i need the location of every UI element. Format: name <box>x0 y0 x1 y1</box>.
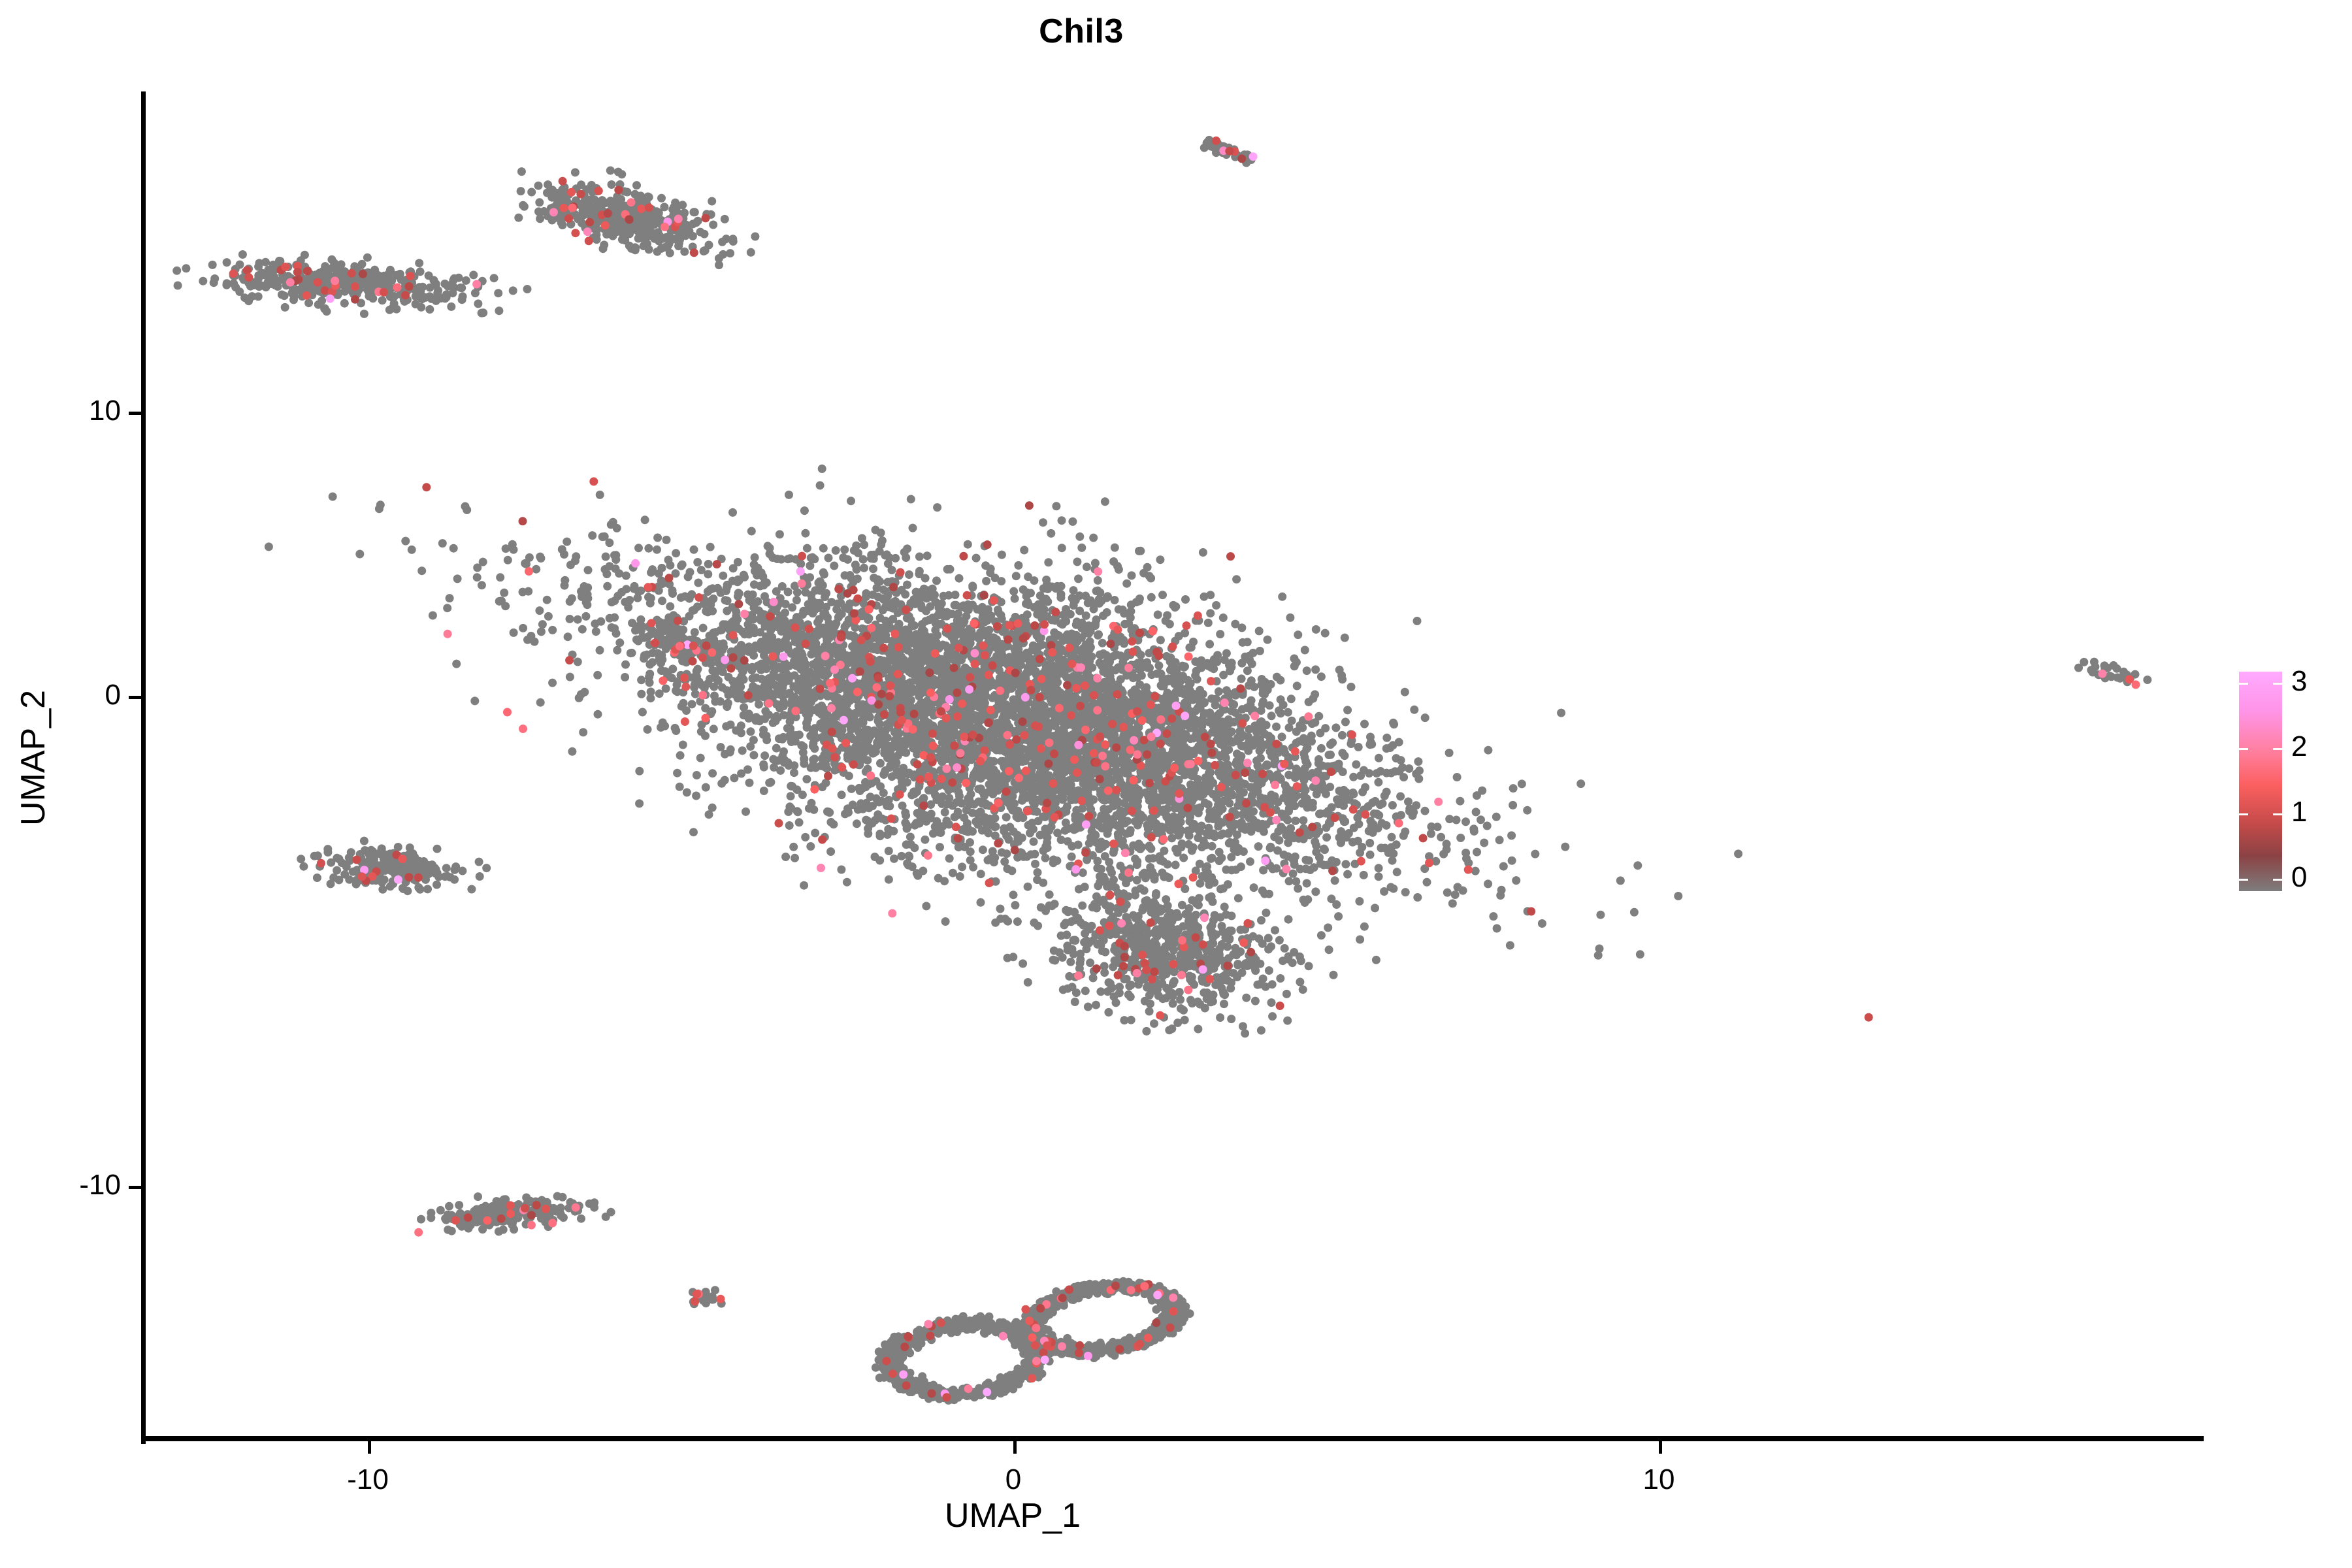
colorbar <box>2239 672 2282 891</box>
legend-label-2: 2 <box>2291 732 2307 761</box>
colorbar-tick-2-left <box>2239 748 2248 750</box>
legend-label-0: 0 <box>2291 863 2307 892</box>
colorbar-tick-3-left <box>2239 683 2248 685</box>
y-tick-label-0: 0 <box>62 679 121 711</box>
colorbar-tick-0-right <box>2273 879 2282 881</box>
x-axis-line <box>141 1436 2204 1441</box>
colorbar-tick-2-right <box>2273 748 2282 750</box>
x-axis-tick--10 <box>368 1441 371 1454</box>
colorbar-tick-1-right <box>2273 813 2282 815</box>
x-tick-label--10: -10 <box>289 1463 446 1496</box>
legend-colorbar: 3 2 1 0 <box>2239 672 2344 900</box>
legend-label-3: 3 <box>2291 667 2307 696</box>
colorbar-tick-1-left <box>2239 813 2248 815</box>
x-axis-title: UMAP_1 <box>784 1496 1241 1535</box>
scatter-points-layer <box>145 91 2203 1439</box>
y-axis-title: UMAP_2 <box>14 529 53 987</box>
legend-label-1: 1 <box>2291 798 2307 826</box>
y-tick-label--10: -10 <box>39 1169 121 1201</box>
x-tick-label-10: 10 <box>1580 1463 1737 1496</box>
y-axis-tick-10 <box>129 412 141 415</box>
page-title: Chil3 <box>0 12 2163 51</box>
colorbar-gradient <box>2239 672 2282 891</box>
colorbar-tick-3-right <box>2273 683 2282 685</box>
x-axis-tick-10 <box>1659 1441 1662 1454</box>
y-tick-label-10: 10 <box>62 395 121 427</box>
umap-feature-plot: Chil3 10 0 -10 -10 0 10 UMAP_1 UMAP_2 3 <box>0 0 2352 1568</box>
colorbar-tick-0-left <box>2239 879 2248 881</box>
x-tick-label-0: 0 <box>935 1463 1092 1496</box>
y-axis-tick--10 <box>129 1186 141 1189</box>
scatter-plot-panel <box>145 91 2203 1439</box>
x-axis-tick-0 <box>1013 1441 1017 1454</box>
y-axis-line <box>141 91 146 1444</box>
y-axis-tick-0 <box>129 696 141 699</box>
